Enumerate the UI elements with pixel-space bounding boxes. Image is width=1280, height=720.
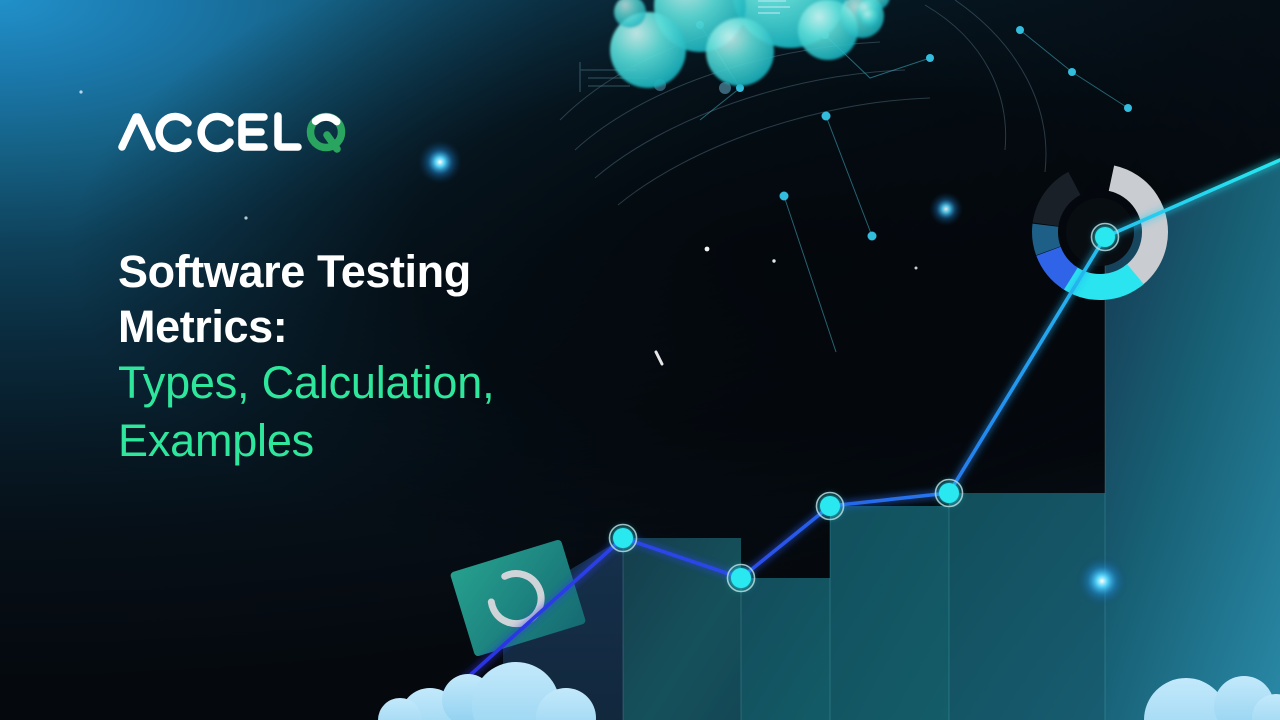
- logo-q-icon: [311, 117, 342, 150]
- accelq-wordmark-icon: [118, 104, 350, 154]
- headline-line-4: Examples: [118, 412, 738, 470]
- headline-block: Software Testing Metrics: Types, Calcula…: [118, 244, 738, 470]
- chart-node: [817, 493, 844, 520]
- chart-node: [1092, 224, 1119, 251]
- hero-banner: Software Testing Metrics: Types, Calcula…: [0, 0, 1280, 720]
- bar-e: [949, 493, 1105, 720]
- chart-node: [936, 480, 963, 507]
- headline-line-3: Types, Calculation,: [118, 354, 738, 412]
- headline-line-1: Software Testing: [118, 244, 738, 299]
- bar-c: [741, 578, 830, 720]
- bar-d: [830, 506, 949, 720]
- bar-b: [623, 538, 741, 720]
- chart-node: [728, 565, 755, 592]
- chart-node: [610, 525, 637, 552]
- brand-logo[interactable]: [118, 100, 350, 158]
- headline-line-2: Metrics:: [118, 299, 738, 354]
